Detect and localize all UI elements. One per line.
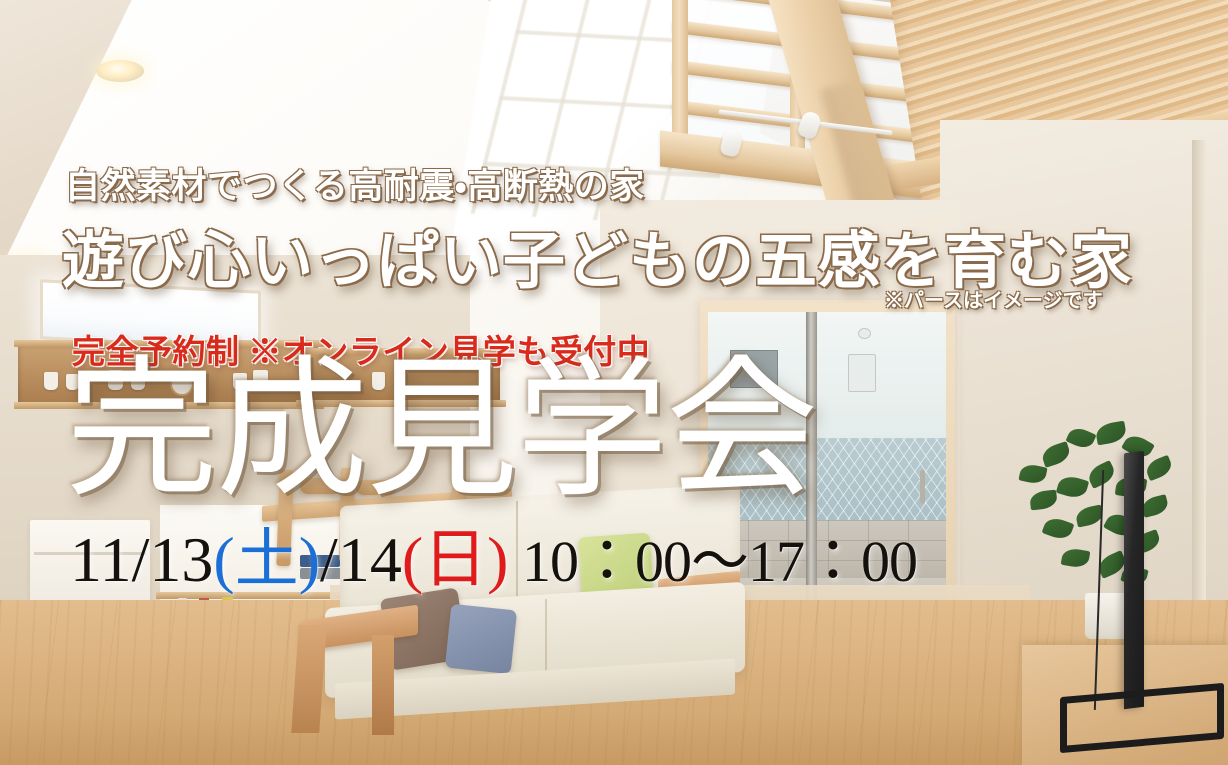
event-time: 10：00〜17：00 (508, 529, 917, 594)
text-overlay: 自然素材でつくる高耐震・高断熱の家 遊び心いっぱい子どもの五感を育む家 ※パース… (0, 0, 1228, 765)
weekday-sunday: (日) (402, 524, 509, 595)
date-first: 11/13 (70, 524, 213, 595)
event-date-line: 11/13(土)/14(日) 10：00〜17：00 (70, 528, 917, 592)
image-disclaimer: ※パースはイメージです (884, 284, 1103, 313)
event-title: 完成見学会 (66, 355, 816, 507)
event-poster: 自然素材でつくる高耐震・高断熱の家 遊び心いっぱい子どもの五感を育む家 ※パース… (0, 0, 1228, 765)
headline-subline-1: 自然素材でつくる高耐震・高断熱の家 (65, 158, 645, 209)
date-separator: / (320, 524, 338, 595)
date-second: 14 (338, 524, 402, 595)
weekday-saturday: (土) (213, 524, 320, 595)
